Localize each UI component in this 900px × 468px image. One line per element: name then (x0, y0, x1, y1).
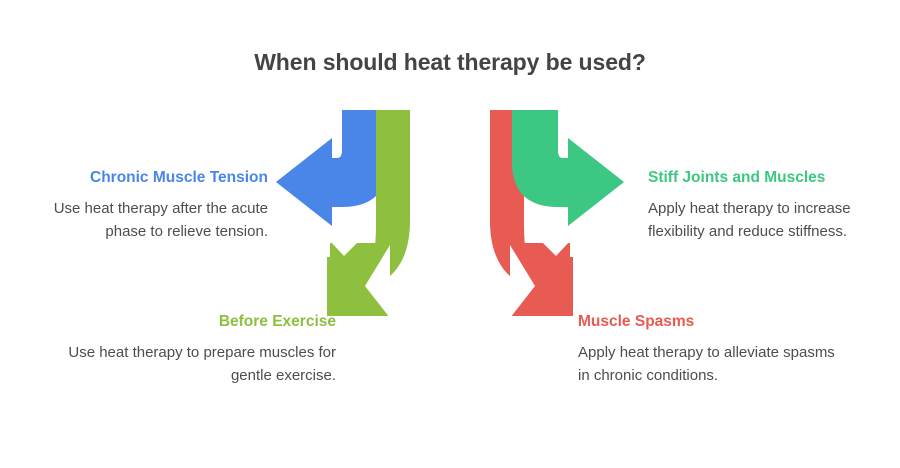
branch-body-stiff-joints-and-muscles: Apply heat therapy to increase flexibili… (648, 198, 894, 244)
branch-body-chronic-muscle-tension: Use heat therapy after the acute phase t… (10, 198, 268, 244)
branch-before-exercise: Before Exercise Use heat therapy to prep… (48, 312, 336, 388)
curved-arrow-right-icon (512, 110, 624, 226)
branch-heading-chronic-muscle-tension: Chronic Muscle Tension (10, 168, 268, 189)
page-title: When should heat therapy be used? (250, 46, 650, 79)
branch-heading-before-exercise: Before Exercise (48, 312, 336, 333)
branch-heading-stiff-joints-and-muscles: Stiff Joints and Muscles (648, 168, 894, 189)
branch-body-muscle-spasms: Apply heat therapy to alleviate spasms i… (578, 342, 838, 388)
branch-body-before-exercise: Use heat therapy to prepare muscles for … (48, 342, 336, 388)
branch-chronic-muscle-tension: Chronic Muscle Tension Use heat therapy … (10, 168, 268, 244)
branch-heading-muscle-spasms: Muscle Spasms (578, 312, 838, 333)
infographic-canvas: When should heat therapy be used? Chroni… (0, 0, 900, 468)
branch-muscle-spasms: Muscle Spasms Apply heat therapy to alle… (578, 312, 838, 388)
curved-arrow-left-icon (276, 110, 388, 226)
arrow-group (275, 108, 625, 323)
branch-stiff-joints-and-muscles: Stiff Joints and Muscles Apply heat ther… (648, 168, 894, 244)
